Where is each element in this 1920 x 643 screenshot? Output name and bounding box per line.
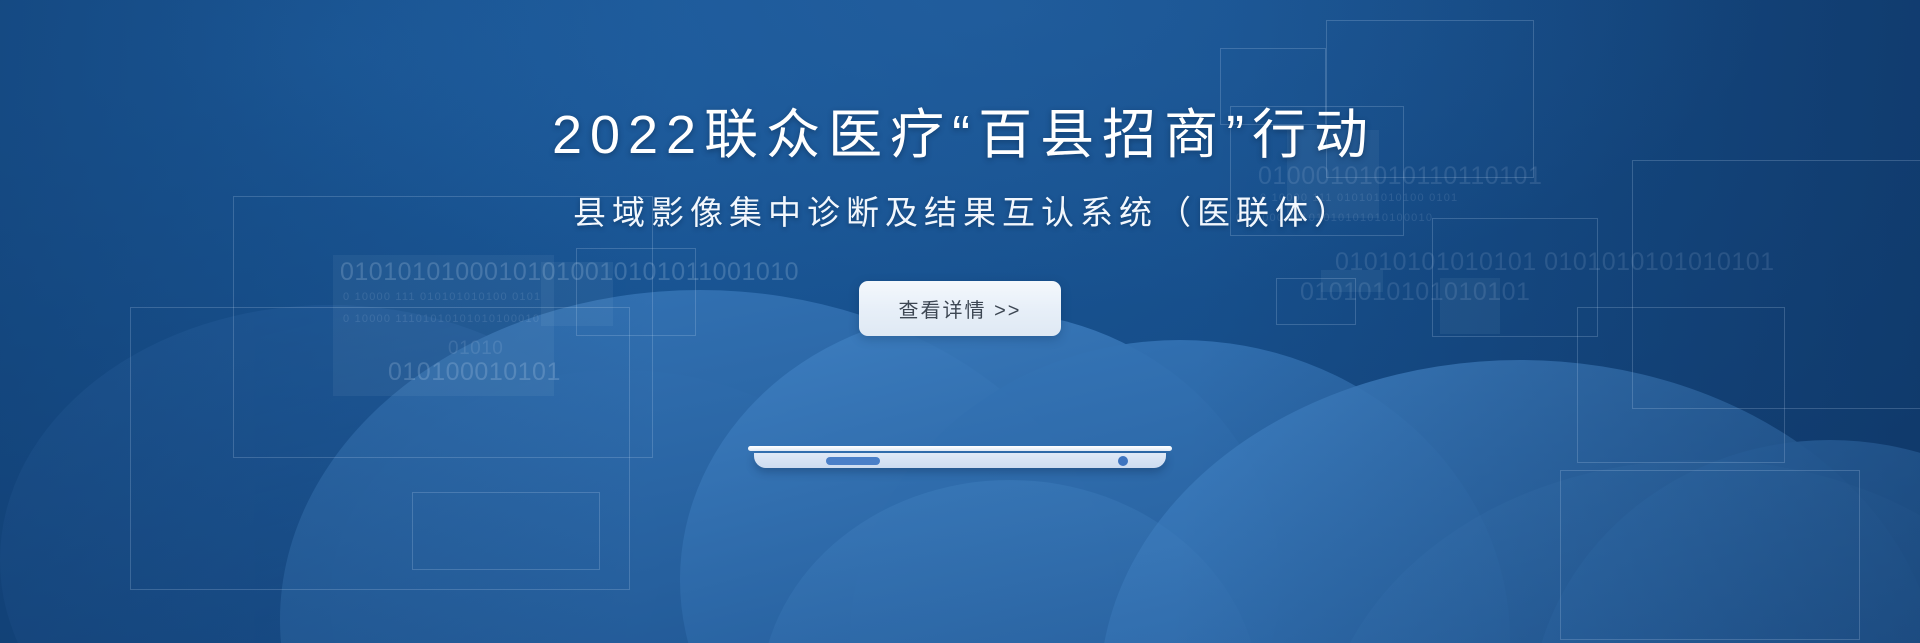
banner-subtitle: 县域影像集中诊断及结果互认系统（医联体） bbox=[567, 196, 1353, 229]
banner-content: 2022联众医疗“百县招商”行动 县域影像集中诊断及结果互认系统（医联体） 查看… bbox=[0, 0, 1920, 643]
view-details-button[interactable]: 查看详情 >> bbox=[859, 281, 1062, 336]
laptop-screen-lip bbox=[748, 446, 1172, 451]
banner-title: 2022联众医疗“百县招商”行动 bbox=[544, 108, 1376, 162]
cta-container: 查看详情 >> bbox=[859, 281, 1062, 336]
laptop-base-illustration bbox=[748, 446, 1172, 471]
laptop-trackpad-indicator bbox=[826, 457, 880, 465]
promo-banner: 01010101000101010010101011001010 0 10000… bbox=[0, 0, 1920, 643]
laptop-deck bbox=[754, 453, 1166, 468]
laptop-power-dot-icon bbox=[1118, 456, 1128, 466]
